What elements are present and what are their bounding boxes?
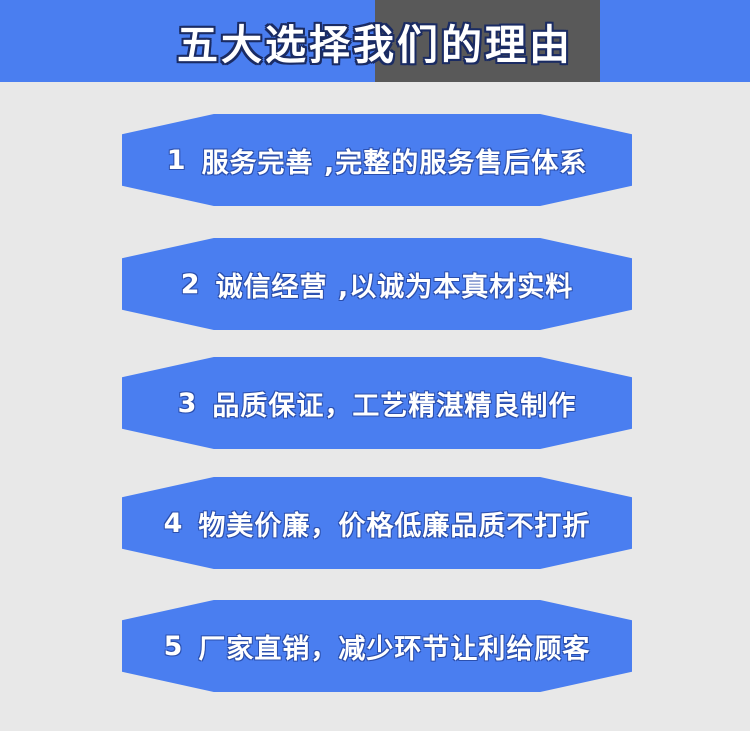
- reason-text: 诚信经营 ,以诚为本真材实料: [216, 265, 574, 304]
- reasons-list: 1 服务完善 ,完整的服务售后体系 2 诚信经营 ,以诚为本真材实料 3 品质保…: [0, 82, 750, 731]
- reason-text: 服务完善 ,完整的服务售后体系: [202, 141, 588, 180]
- reason-text: 物美价廉，价格低廉品质不打折: [198, 504, 590, 543]
- list-item: 2 诚信经营 ,以诚为本真材实料: [122, 238, 632, 330]
- reason-number: 2: [181, 269, 200, 300]
- list-item: 4 物美价廉，价格低廉品质不打折: [122, 477, 632, 569]
- reason-text: 品质保证，工艺精湛精良制作: [212, 384, 576, 423]
- reason-number: 4: [164, 508, 183, 539]
- reason-number: 1: [167, 145, 186, 176]
- page-title: 五大选择我们的理由: [0, 0, 750, 82]
- list-item: 1 服务完善 ,完整的服务售后体系: [122, 114, 632, 206]
- promo-poster: 五大选择我们的理由 1 服务完善 ,完整的服务售后体系 2 诚信经营 ,以诚为本…: [0, 0, 750, 731]
- list-item: 5 厂家直销，减少环节让利给顾客: [122, 600, 632, 692]
- list-item: 3 品质保证，工艺精湛精良制作: [122, 357, 632, 449]
- reason-number: 5: [164, 631, 183, 662]
- reason-text: 厂家直销，减少环节让利给顾客: [198, 627, 590, 666]
- reason-number: 3: [178, 388, 197, 419]
